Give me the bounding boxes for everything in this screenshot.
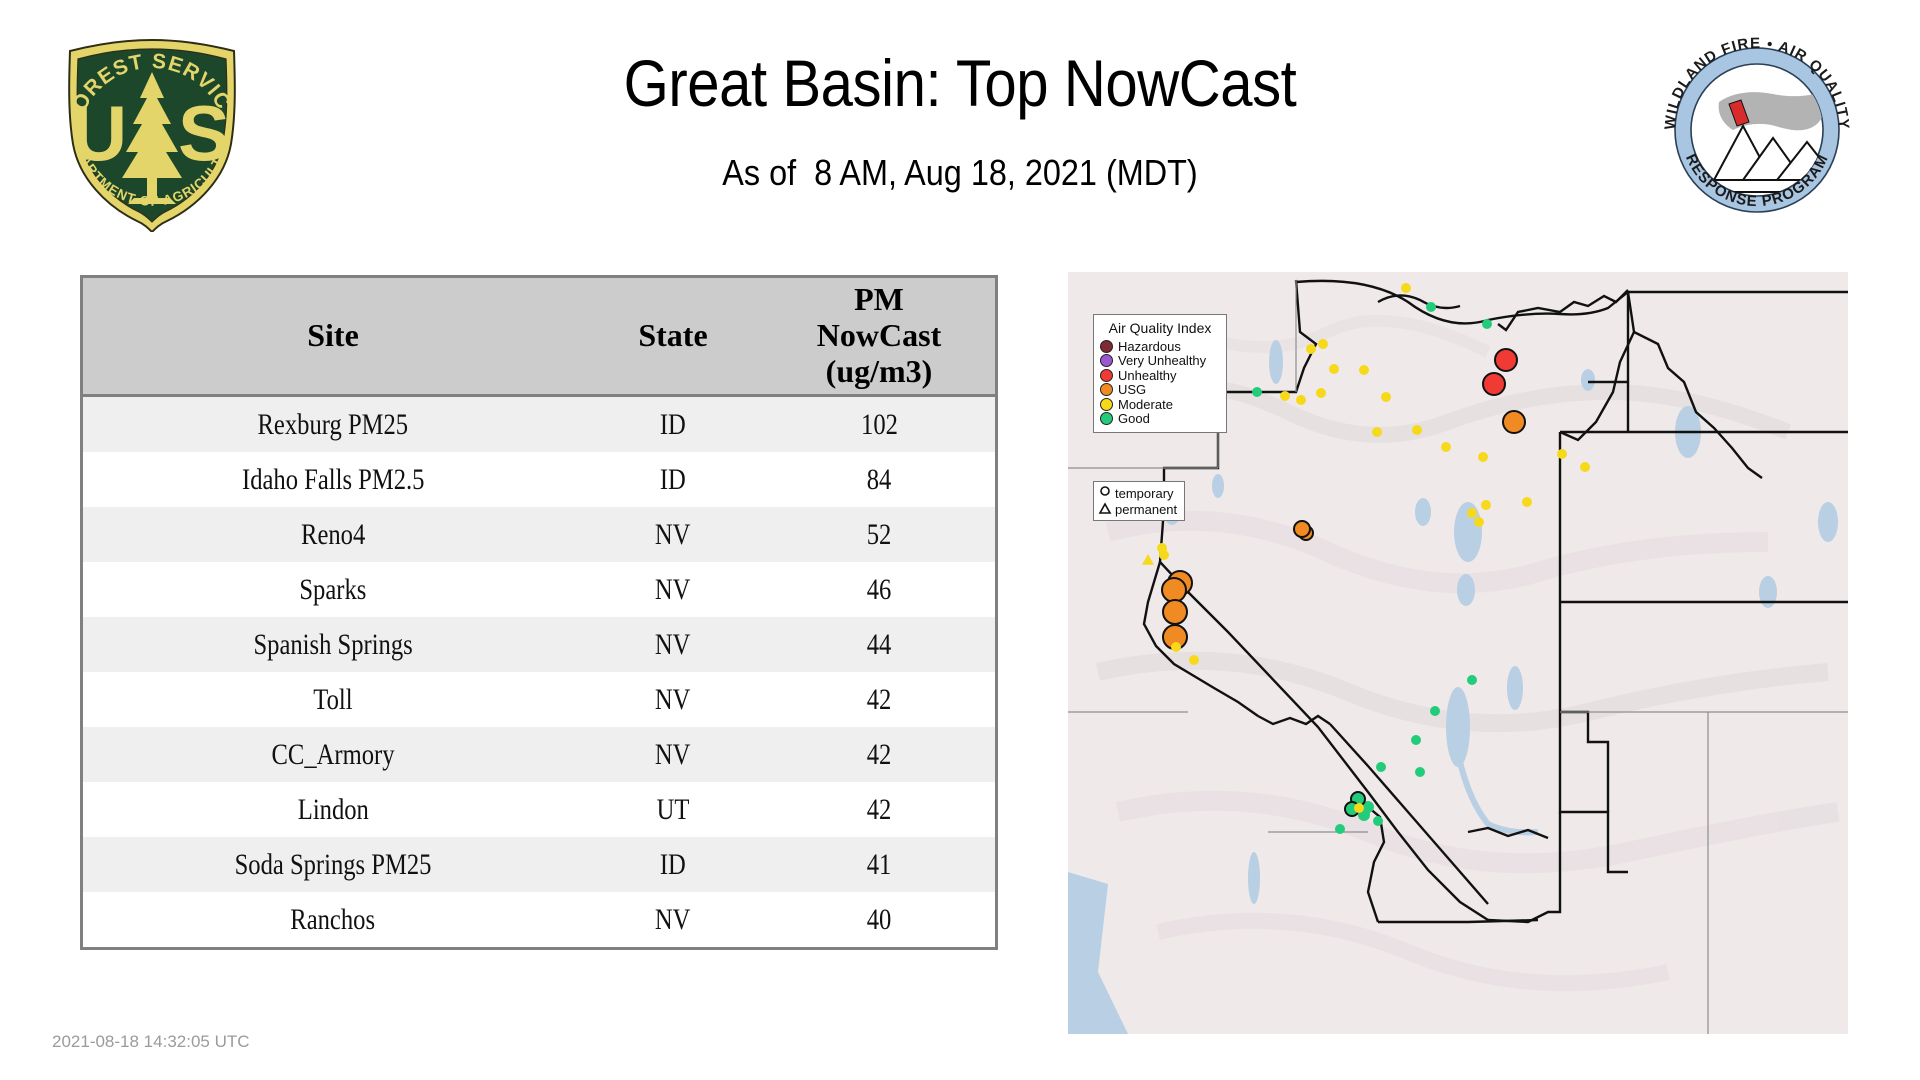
site-cell: Spanish Springs: [82, 617, 584, 672]
aqi-color-swatch: [1100, 398, 1113, 411]
aqi-legend-row: Moderate: [1100, 397, 1220, 412]
monitor-point-temporary[interactable]: [1412, 425, 1422, 435]
monitor-point-temporary[interactable]: [1481, 500, 1491, 510]
monitor-point-temporary[interactable]: [1372, 427, 1382, 437]
state-cell: NV: [583, 617, 763, 672]
aqi-category-label: Good: [1118, 411, 1150, 426]
nowcast-label: NowCast: [763, 318, 995, 354]
monitor-point-temporary[interactable]: [1467, 675, 1477, 685]
aqi-legend-row: Unhealthy: [1100, 368, 1220, 383]
nowcast-table-container: Site State PM NowCast (ug/m3) Rexburg PM…: [80, 275, 992, 950]
aqi-category-label: Very Unhealthy: [1118, 353, 1206, 368]
aqi-color-swatch: [1100, 383, 1113, 396]
value-cell: 42: [763, 782, 997, 837]
monitor-point-temporary[interactable]: [1467, 508, 1477, 518]
site-cell: Ranchos: [82, 892, 584, 949]
page-title: Great Basin: Top NowCast: [379, 50, 1541, 116]
aqi-color-swatch: [1100, 369, 1113, 382]
table-row: Soda Springs PM25ID41: [82, 837, 997, 892]
aqi-category-label: Moderate: [1118, 397, 1173, 412]
site-cell: Soda Springs PM25: [82, 837, 584, 892]
monitor-point-temporary[interactable]: [1415, 767, 1425, 777]
aqi-legend-row: Very Unhealthy: [1100, 354, 1220, 369]
monitor-point-temporary[interactable]: [1189, 655, 1199, 665]
monitor-point-temporary[interactable]: [1354, 803, 1364, 813]
aqi-category-label: Hazardous: [1118, 339, 1181, 354]
aqi-legend: Air Quality Index HazardousVery Unhealth…: [1093, 314, 1227, 433]
monitor-point-temporary[interactable]: [1296, 395, 1306, 405]
table-row: LindonUT42: [82, 782, 997, 837]
value-cell: 42: [763, 672, 997, 727]
aqi-legend-title: Air Quality Index: [1100, 320, 1220, 336]
monitor-point-temporary[interactable]: [1503, 411, 1525, 433]
state-cell: NV: [583, 892, 763, 949]
value-cell: 102: [763, 396, 997, 453]
monitor-point-temporary[interactable]: [1171, 642, 1181, 652]
units-label: (ug/m3): [763, 354, 995, 390]
monitor-point-temporary[interactable]: [1316, 388, 1326, 398]
column-header-site: Site: [82, 277, 584, 396]
table-header: Site State PM NowCast (ug/m3): [82, 277, 997, 396]
site-cell: CC_Armory: [82, 727, 584, 782]
legend-label-temporary: temporary: [1115, 486, 1174, 501]
usfs-letter-u: U: [71, 89, 127, 177]
monitor-point-temporary[interactable]: [1441, 442, 1451, 452]
value-cell: 42: [763, 727, 997, 782]
value-cell: 44: [763, 617, 997, 672]
legend-label-permanent: permanent: [1115, 502, 1177, 517]
site-type-legend: temporary permanent: [1093, 481, 1185, 521]
triangle-outline-icon: [1098, 502, 1112, 516]
monitor-point-temporary[interactable]: [1159, 550, 1169, 560]
monitor-point-temporary[interactable]: [1359, 365, 1369, 375]
state-cell: NV: [583, 562, 763, 617]
monitor-point-temporary[interactable]: [1474, 517, 1484, 527]
state-cell: NV: [583, 672, 763, 727]
state-cell: ID: [583, 452, 763, 507]
site-cell: Toll: [82, 672, 584, 727]
monitor-point-temporary[interactable]: [1483, 373, 1505, 395]
aqi-legend-row: Hazardous: [1100, 339, 1220, 354]
table-row: SparksNV46: [82, 562, 997, 617]
pm-label: PM: [763, 282, 995, 318]
monitor-point-temporary[interactable]: [1294, 521, 1310, 537]
table-row: Reno4NV52: [82, 507, 997, 562]
monitor-point-temporary[interactable]: [1318, 339, 1328, 349]
site-cell: Reno4: [82, 507, 584, 562]
nowcast-table: Site State PM NowCast (ug/m3) Rexburg PM…: [80, 275, 998, 950]
monitor-point-temporary[interactable]: [1280, 391, 1290, 401]
site-cell: Idaho Falls PM2.5: [82, 452, 584, 507]
monitor-point-temporary[interactable]: [1482, 319, 1492, 329]
table-body: Rexburg PM25ID102Idaho Falls PM2.5ID84Re…: [82, 396, 997, 949]
table-row: TollNV42: [82, 672, 997, 727]
air-quality-map[interactable]: Air Quality Index HazardousVery Unhealth…: [1068, 272, 1848, 1034]
monitor-point-temporary[interactable]: [1478, 452, 1488, 462]
wfaqrp-logo: WILDLAND FIRE • AIR QUALITY RESPONSE PRO…: [1657, 30, 1857, 230]
value-cell: 84: [763, 452, 997, 507]
state-cell: NV: [583, 727, 763, 782]
aqi-category-label: Unhealthy: [1118, 368, 1177, 383]
monitor-point-temporary[interactable]: [1381, 392, 1391, 402]
title-block: Great Basin: Top NowCast As of 8 AM, Aug…: [300, 50, 1620, 194]
legend-row-permanent: permanent: [1098, 501, 1180, 517]
aqi-color-swatch: [1100, 340, 1113, 353]
aqi-color-swatch: [1100, 412, 1113, 425]
footer-timestamp: 2021-08-18 14:32:05 UTC: [52, 1032, 250, 1052]
site-cell: Rexburg PM25: [82, 396, 584, 453]
aqi-category-label: USG: [1118, 382, 1146, 397]
monitor-point-temporary[interactable]: [1376, 762, 1386, 772]
monitor-point-temporary[interactable]: [1426, 302, 1436, 312]
monitor-point-temporary[interactable]: [1430, 706, 1440, 716]
table-row: Spanish SpringsNV44: [82, 617, 997, 672]
state-cell: ID: [583, 396, 763, 453]
monitor-point-temporary[interactable]: [1329, 364, 1339, 374]
usfs-shield-logo: FOREST SERVICE DEPARTMENT OF AGRICULTURE…: [52, 32, 252, 232]
monitor-point-temporary[interactable]: [1522, 497, 1532, 507]
table-row: RanchosNV40: [82, 892, 997, 949]
site-cell: Lindon: [82, 782, 584, 837]
table-row: Rexburg PM25ID102: [82, 396, 997, 453]
column-header-state: State: [583, 277, 763, 396]
value-cell: 41: [763, 837, 997, 892]
aqi-legend-row: Good: [1100, 412, 1220, 427]
table-row: Idaho Falls PM2.5ID84: [82, 452, 997, 507]
aqi-color-swatch: [1100, 354, 1113, 367]
table-row: CC_ArmoryNV42: [82, 727, 997, 782]
circle-outline-icon: [1098, 486, 1112, 500]
state-cell: ID: [583, 837, 763, 892]
site-cell: Sparks: [82, 562, 584, 617]
monitor-point-temporary[interactable]: [1580, 462, 1590, 472]
column-header-pm-nowcast: PM NowCast (ug/m3): [763, 277, 997, 396]
value-cell: 52: [763, 507, 997, 562]
table-header-row: Site State PM NowCast (ug/m3): [82, 277, 997, 396]
monitor-point-temporary[interactable]: [1401, 283, 1411, 293]
value-cell: 46: [763, 562, 997, 617]
monitor-point-temporary[interactable]: [1373, 816, 1383, 826]
page-header: FOREST SERVICE DEPARTMENT OF AGRICULTURE…: [0, 0, 1920, 240]
monitor-point-temporary[interactable]: [1495, 349, 1517, 371]
monitor-point-temporary[interactable]: [1163, 600, 1187, 624]
value-cell: 40: [763, 892, 997, 949]
usfs-letter-s: S: [178, 89, 230, 177]
monitor-point-temporary[interactable]: [1162, 578, 1186, 602]
monitor-point-temporary[interactable]: [1252, 387, 1262, 397]
aqi-legend-row: USG: [1100, 383, 1220, 398]
monitor-point-temporary[interactable]: [1335, 824, 1345, 834]
monitor-point-temporary[interactable]: [1306, 344, 1316, 354]
state-cell: UT: [583, 782, 763, 837]
page-subtitle: As of 8 AM, Aug 18, 2021 (MDT): [366, 152, 1554, 194]
state-cell: NV: [583, 507, 763, 562]
aqi-legend-rows: HazardousVery UnhealthyUnhealthyUSGModer…: [1100, 339, 1220, 426]
monitor-point-temporary[interactable]: [1411, 735, 1421, 745]
monitor-point-temporary[interactable]: [1557, 449, 1567, 459]
legend-row-temporary: temporary: [1098, 485, 1180, 501]
